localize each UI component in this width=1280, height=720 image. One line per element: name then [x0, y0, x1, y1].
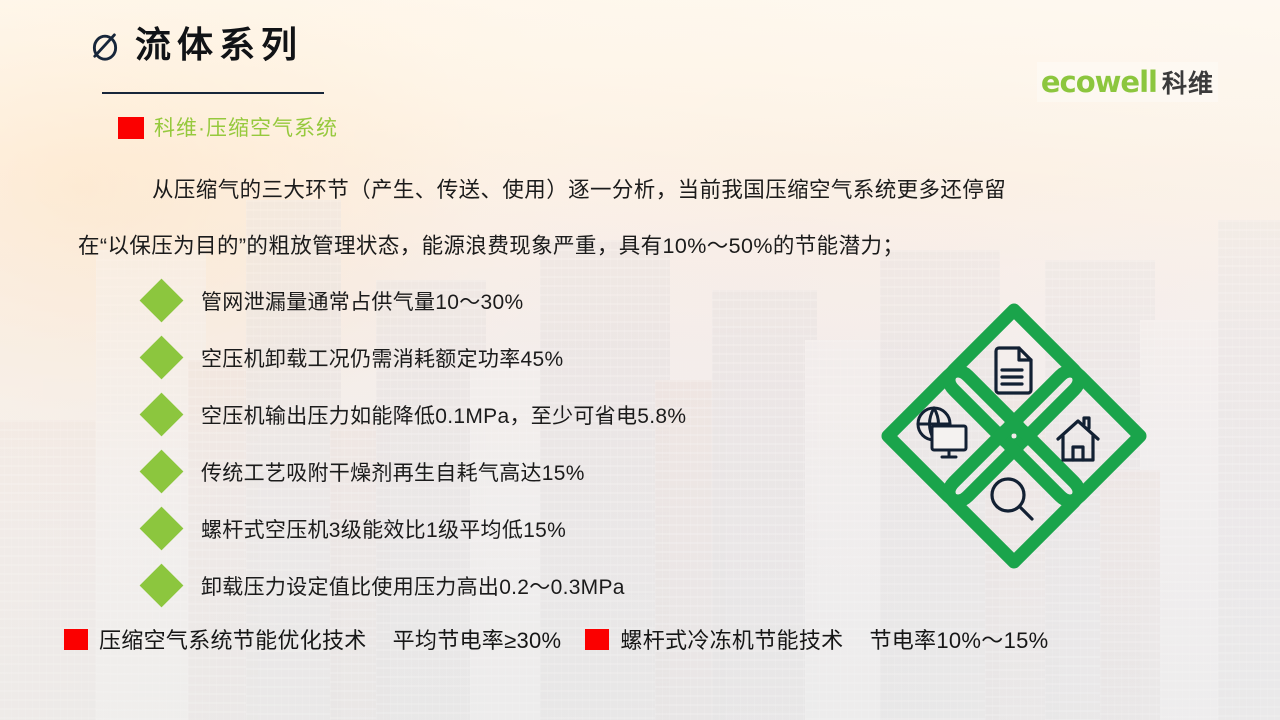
logo-latin-wordmark: ecowell [1041, 65, 1157, 99]
red-square-bullet-icon [118, 117, 144, 139]
green-diamond-bullet-icon [140, 279, 184, 323]
list-item: 空压机卸载工况仍需消耗额定功率45% [146, 329, 926, 386]
globe-monitor-icon [918, 408, 966, 457]
list-item: 空压机输出压力如能降低0.1MPa，至少可省电5.8% [146, 386, 926, 443]
footer-item-1: 压缩空气系统节能优化技术 平均节电率≥30% [64, 623, 561, 655]
green-diamond-bullet-icon [140, 336, 184, 380]
page-title: 流体系列 [135, 28, 303, 64]
list-item-label: 卸载压力设定值比使用压力高出0.2～0.3MPa [201, 571, 625, 601]
list-item-label: 空压机卸载工况仍需消耗额定功率45% [201, 343, 563, 373]
paragraph-line-1: 从压缩气的三大环节（产生、传送、使用）逐一分析，当前我国压缩空气系统更多还停留 [152, 178, 1006, 202]
section-heading-row: 科维·压缩空气系统 [118, 117, 338, 139]
green-diamond-bullet-icon [140, 450, 184, 494]
section-heading: 科维·压缩空气系统 [154, 118, 338, 139]
red-square-bullet-icon [585, 629, 609, 650]
green-diamond-bullet-icon [140, 564, 184, 608]
house-icon [1058, 418, 1098, 460]
footer-item-2: 螺杆式冷冻机节能技术 节电率10%～15% [585, 623, 1048, 655]
list-item-label: 管网泄漏量通常占供气量10～30% [201, 286, 524, 316]
list-item-label: 螺杆式空压机3级能效比1级平均低15% [201, 514, 566, 544]
footer-item-value: 平均节电率≥30% [393, 623, 562, 655]
slide-canvas: 流体系列 科维·压缩空气系统 从压缩气的三大环节（产生、传送、使用）逐一分析，当… [0, 0, 1280, 720]
magnifier-icon [992, 479, 1032, 519]
list-item-label: 空压机输出压力如能降低0.1MPa，至少可省电5.8% [201, 400, 686, 430]
title-underline-rule [102, 92, 324, 94]
green-diamond-bullet-icon [140, 393, 184, 437]
footer-item-label: 压缩空气系统节能优化技术 [99, 623, 367, 655]
paragraph-line-2: 在“以保压为目的”的粗放管理状态，能源浪费现象严重，具有10%～50%的节能潜力… [78, 234, 904, 258]
intro-paragraph: 从压缩气的三大环节（产生、传送、使用）逐一分析，当前我国压缩空气系统更多还停留 … [78, 162, 1208, 274]
list-item: 传统工艺吸附干燥剂再生自耗气高达15% [146, 443, 926, 500]
red-square-bullet-icon [64, 629, 88, 650]
list-item: 管网泄漏量通常占供气量10～30% [146, 272, 926, 329]
list-item-label: 传统工艺吸附干燥剂再生自耗气高达15% [201, 457, 585, 487]
document-icon [996, 348, 1031, 393]
bullet-list: 管网泄漏量通常占供气量10～30% 空压机卸载工况仍需消耗额定功率45% 空压机… [146, 272, 926, 614]
brand-logo: ecowell 科维 [1037, 62, 1218, 102]
clover-diamond-graphic [878, 300, 1150, 572]
green-diamond-bullet-icon [140, 507, 184, 551]
list-item: 卸载压力设定值比使用压力高出0.2～0.3MPa [146, 557, 926, 614]
logo-chinese-wordmark: 科维 [1162, 64, 1214, 100]
footer-item-label: 螺杆式冷冻机节能技术 [620, 623, 843, 655]
list-item: 螺杆式空压机3级能效比1级平均低15% [146, 500, 926, 557]
footer-row: 压缩空气系统节能优化技术 平均节电率≥30% 螺杆式冷冻机节能技术 节电率10%… [64, 623, 1264, 655]
slide-title-row: 流体系列 [88, 28, 303, 64]
null-slashed-circle-icon [88, 29, 122, 63]
footer-item-value: 节电率10%～15% [869, 623, 1048, 655]
